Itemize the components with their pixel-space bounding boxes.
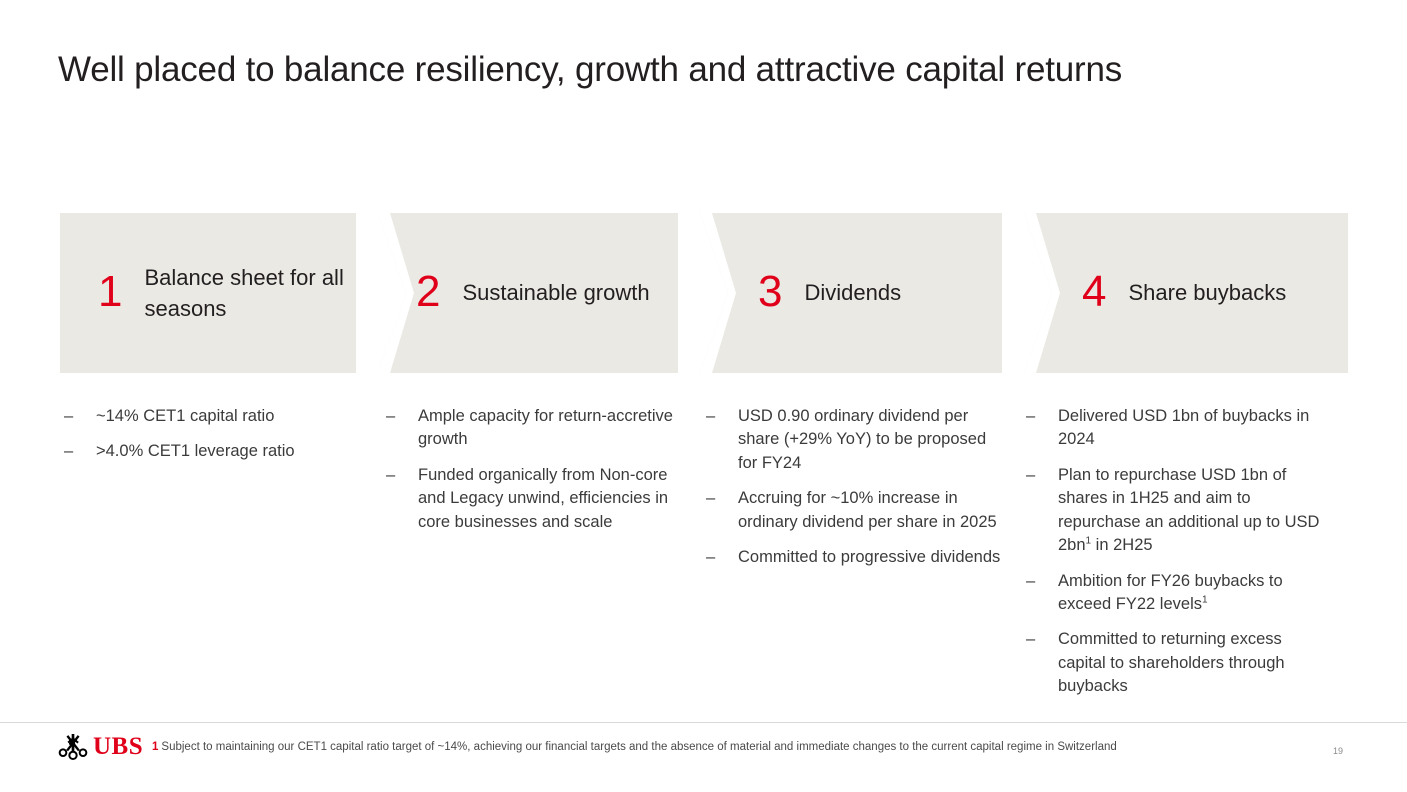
ubs-keys-icon <box>56 732 90 760</box>
step-number-2: 2 <box>416 270 440 314</box>
list-item: – Ambition for FY26 buybacks to exceed F… <box>1022 570 1332 617</box>
bullet-dash-icon: – <box>386 464 395 487</box>
list-item: – Ample capacity for return-accretive gr… <box>382 405 682 452</box>
bullet-dash-icon: – <box>706 487 715 510</box>
bullet-dash-icon: – <box>1026 628 1035 651</box>
step-box-3[interactable]: 3 Dividends <box>700 213 1018 373</box>
bullet-column-4: – Delivered USD 1bn of buybacks in 2024 … <box>1022 405 1332 711</box>
list-item-text: USD 0.90 ordinary dividend per share (+2… <box>738 407 986 472</box>
list-item: – Funded organically from Non-core and L… <box>382 464 682 534</box>
list-item: – Committed to returning excess capital … <box>1022 628 1332 698</box>
step-box-4[interactable]: 4 Share buybacks <box>1024 213 1348 373</box>
list-item: – >4.0% CET1 leverage ratio <box>60 440 370 463</box>
step-box-1[interactable]: 1 Balance sheet for all seasons <box>60 213 368 373</box>
bullet-dash-icon: – <box>706 546 715 569</box>
list-item-text: Ample capacity for return-accretive grow… <box>418 407 673 448</box>
footnote-marker: 1 <box>152 741 158 753</box>
footnote-reference: 1 <box>1202 594 1208 605</box>
list-item-text: Accruing for ~10% increase in ordinary d… <box>738 489 997 530</box>
list-item-text: >4.0% CET1 leverage ratio <box>96 442 295 460</box>
list-item-text: Funded organically from Non-core and Leg… <box>418 466 668 531</box>
bullet-dash-icon: – <box>1026 570 1035 593</box>
list-item: – Plan to repurchase USD 1bn of shares i… <box>1022 464 1332 558</box>
page-title: Well placed to balance resiliency, growt… <box>58 50 1122 90</box>
list-item-text-tail: in 2H25 <box>1091 536 1152 554</box>
list-item: – Delivered USD 1bn of buybacks in 2024 <box>1022 405 1332 452</box>
bullet-dash-icon: – <box>706 405 715 428</box>
step-box-2[interactable]: 2 Sustainable growth <box>378 213 694 373</box>
ubs-logo: UBS <box>56 731 143 761</box>
step-number-3: 3 <box>758 270 782 314</box>
step-label-2: Sustainable growth <box>462 277 649 308</box>
list-item-text: Committed to progressive dividends <box>738 548 1000 566</box>
step-number-4: 4 <box>1082 270 1106 314</box>
bullet-dash-icon: – <box>1026 405 1035 428</box>
bullet-dash-icon: – <box>64 440 73 463</box>
list-item-text: Ambition for FY26 buybacks to exceed FY2… <box>1058 572 1283 613</box>
list-item: – Accruing for ~10% increase in ordinary… <box>702 487 1007 534</box>
step-label-4: Share buybacks <box>1128 277 1286 308</box>
list-item-text: ~14% CET1 capital ratio <box>96 407 274 425</box>
list-item: – ~14% CET1 capital ratio <box>60 405 370 428</box>
footnote-text: Subject to maintaining our CET1 capital … <box>161 741 1116 753</box>
step-band: 1 Balance sheet for all seasons 2 Sustai… <box>60 213 1348 373</box>
bullet-column-3: – USD 0.90 ordinary dividend per share (… <box>702 405 1007 582</box>
ubs-wordmark: UBS <box>93 734 143 759</box>
bullet-dash-icon: – <box>1026 464 1035 487</box>
list-item: – USD 0.90 ordinary dividend per share (… <box>702 405 1007 475</box>
bullet-column-1: – ~14% CET1 capital ratio – >4.0% CET1 l… <box>60 405 370 476</box>
bullet-column-2: – Ample capacity for return-accretive gr… <box>382 405 682 546</box>
footer-divider <box>0 722 1407 723</box>
list-item-text: Committed to returning excess capital to… <box>1058 630 1285 695</box>
footnote: 1Subject to maintaining our CET1 capital… <box>152 740 1117 755</box>
bullet-dash-icon: – <box>386 405 395 428</box>
bullet-dash-icon: – <box>64 405 73 428</box>
step-number-1: 1 <box>98 270 122 314</box>
list-item: – Committed to progressive dividends <box>702 546 1007 569</box>
step-label-1: Balance sheet for all seasons <box>144 262 356 324</box>
step-label-3: Dividends <box>804 277 901 308</box>
list-item-text: Delivered USD 1bn of buybacks in 2024 <box>1058 407 1309 448</box>
page-number: 19 <box>1333 746 1343 756</box>
